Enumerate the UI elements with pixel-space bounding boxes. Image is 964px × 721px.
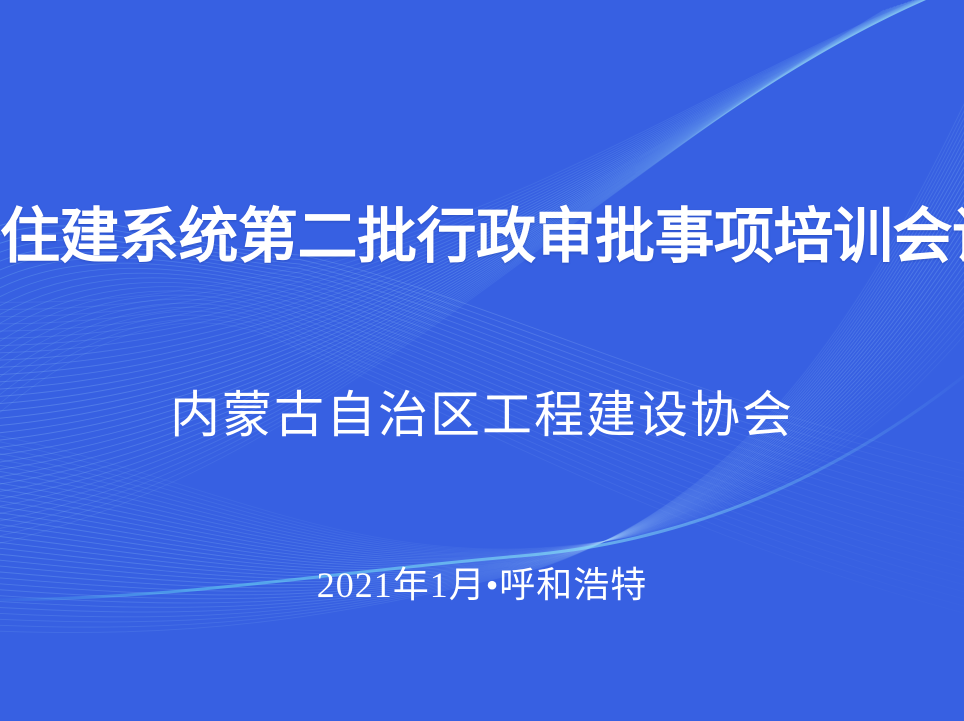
title-slide: 住建系统第二批行政审批事项培训会议 内蒙古自治区工程建设协会 2021年1月•呼…	[0, 0, 964, 721]
page-title: 住建系统第二批行政审批事项培训会议	[0, 198, 964, 276]
organization-subtitle: 内蒙古自治区工程建设协会	[0, 382, 964, 448]
slide-text-stack: 住建系统第二批行政审批事项培训会议 内蒙古自治区工程建设协会 2021年1月•呼…	[0, 0, 964, 721]
date-location-line: 2021年1月•呼和浩特	[0, 562, 964, 608]
